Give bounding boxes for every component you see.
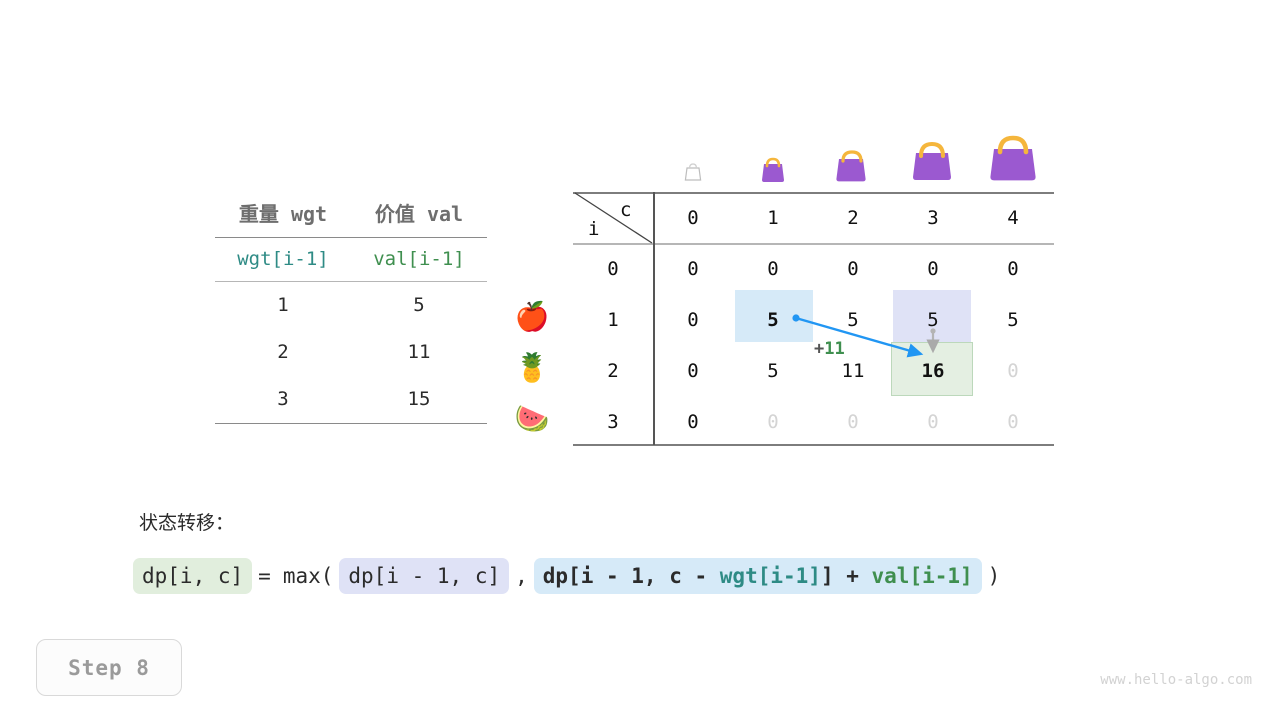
- dp-cell-0-0: 0: [653, 258, 733, 280]
- dp-row-header-0: 0: [573, 258, 653, 280]
- items-subheader-row: wgt[i-1] val[i-1]: [215, 238, 487, 282]
- dp-col-header-0: 0: [653, 207, 733, 229]
- dp-bottom-rule: [573, 444, 1054, 446]
- dp-cell-1-4: 5: [973, 309, 1053, 331]
- dp-corner-row-label: i: [588, 218, 599, 240]
- formula-max-open: max(: [277, 564, 340, 588]
- apple-emoji: 🍎: [505, 303, 559, 331]
- formula-close: ): [982, 564, 1007, 588]
- dp-cell-2-3: 16: [893, 360, 973, 382]
- gain-amount: 11: [824, 339, 844, 359]
- item-val-3: 15: [351, 376, 487, 424]
- dp-row-header-2: 2: [573, 360, 653, 382]
- dp-cell-3-0: 0: [653, 411, 733, 433]
- dp-cell-0-3: 0: [893, 258, 973, 280]
- dp-cell-2-2: 11: [813, 360, 893, 382]
- dp-cell-2-1: 5: [733, 360, 813, 382]
- dp-row-header-1: 1: [573, 309, 653, 331]
- dp-col-header-3: 3: [893, 207, 973, 229]
- dp-corner-col-label: c: [620, 199, 631, 221]
- items-table: 重量 wgt 价值 val wgt[i-1] val[i-1] 1 5 2 11: [215, 192, 487, 424]
- dp-cell-3-1: 0: [733, 411, 813, 433]
- bag-icon-2: [831, 142, 873, 182]
- formula-option-b-val: val[i-1]: [872, 564, 973, 588]
- formula-option-b-wgt: wgt[i-1]: [720, 564, 821, 588]
- step-badge: Step 8: [36, 639, 182, 696]
- table-row: 2 11: [215, 329, 487, 376]
- bag-icon-1: [756, 150, 790, 182]
- formula-option-b-prefix: dp[i - 1, c -: [543, 564, 720, 588]
- formula-option-b-mid: ] +: [821, 564, 872, 588]
- items-header-wgt: 重量 wgt: [215, 192, 351, 238]
- transition-label: 状态转移：: [139, 508, 234, 535]
- dp-cell-2-4: 0: [973, 360, 1053, 382]
- bag-icon-4: [985, 124, 1043, 182]
- dp-col-header-2: 2: [813, 207, 893, 229]
- items-header-row: 重量 wgt 价值 val: [215, 192, 487, 238]
- dp-cell-0-1: 0: [733, 258, 813, 280]
- dp-cell-2-0: 0: [653, 360, 733, 382]
- dp-cell-1-1: 5: [733, 309, 813, 331]
- formula-equals: =: [252, 564, 277, 588]
- pineapple-emoji: 🍍: [505, 354, 559, 382]
- item-val-1: 5: [351, 282, 487, 330]
- formula-option-b: dp[i - 1, c - wgt[i-1]] + val[i-1]: [534, 558, 982, 594]
- dp-cell-3-2: 0: [813, 411, 893, 433]
- item-wgt-2: 2: [215, 329, 351, 376]
- bag-icon-0: [679, 158, 707, 182]
- dp-cell-0-4: 0: [973, 258, 1053, 280]
- watermelon-emoji: 🍉: [505, 405, 559, 433]
- gain-sign: +: [814, 339, 824, 359]
- dp-cell-0-2: 0: [813, 258, 893, 280]
- dp-cell-1-0: 0: [653, 309, 733, 331]
- dp-cell-3-4: 0: [973, 411, 1053, 433]
- items-header-val: 价值 val: [351, 192, 487, 238]
- slide-canvas: 重量 wgt 价值 val wgt[i-1] val[i-1] 1 5 2 11: [0, 0, 1280, 720]
- bag-icon-3: [908, 132, 958, 182]
- item-val-2: 11: [351, 329, 487, 376]
- dp-cell-1-3: 5: [893, 309, 973, 331]
- formula-target: dp[i, c]: [133, 558, 252, 594]
- gain-annotation: +11: [814, 339, 845, 359]
- dp-col-header-4: 4: [973, 207, 1053, 229]
- corner-diagonal: [573, 192, 654, 244]
- item-wgt-1: 1: [215, 282, 351, 330]
- dp-cell-3-3: 0: [893, 411, 973, 433]
- transition-formula: dp[i, c] = max( dp[i - 1, c] , dp[i - 1,…: [133, 558, 1006, 594]
- dp-row-header-3: 3: [573, 411, 653, 433]
- formula-comma: ,: [509, 564, 534, 588]
- dp-cell-1-2: 5: [813, 309, 893, 331]
- items-subheader-val: val[i-1]: [351, 238, 487, 282]
- item-wgt-3: 3: [215, 376, 351, 424]
- table-row: 1 5: [215, 282, 487, 330]
- items-subheader-wgt: wgt[i-1]: [215, 238, 351, 282]
- table-row: 3 15: [215, 376, 487, 424]
- watermark: www.hello-algo.com: [1100, 672, 1252, 688]
- dp-col-header-1: 1: [733, 207, 813, 229]
- formula-option-a: dp[i - 1, c]: [339, 558, 509, 594]
